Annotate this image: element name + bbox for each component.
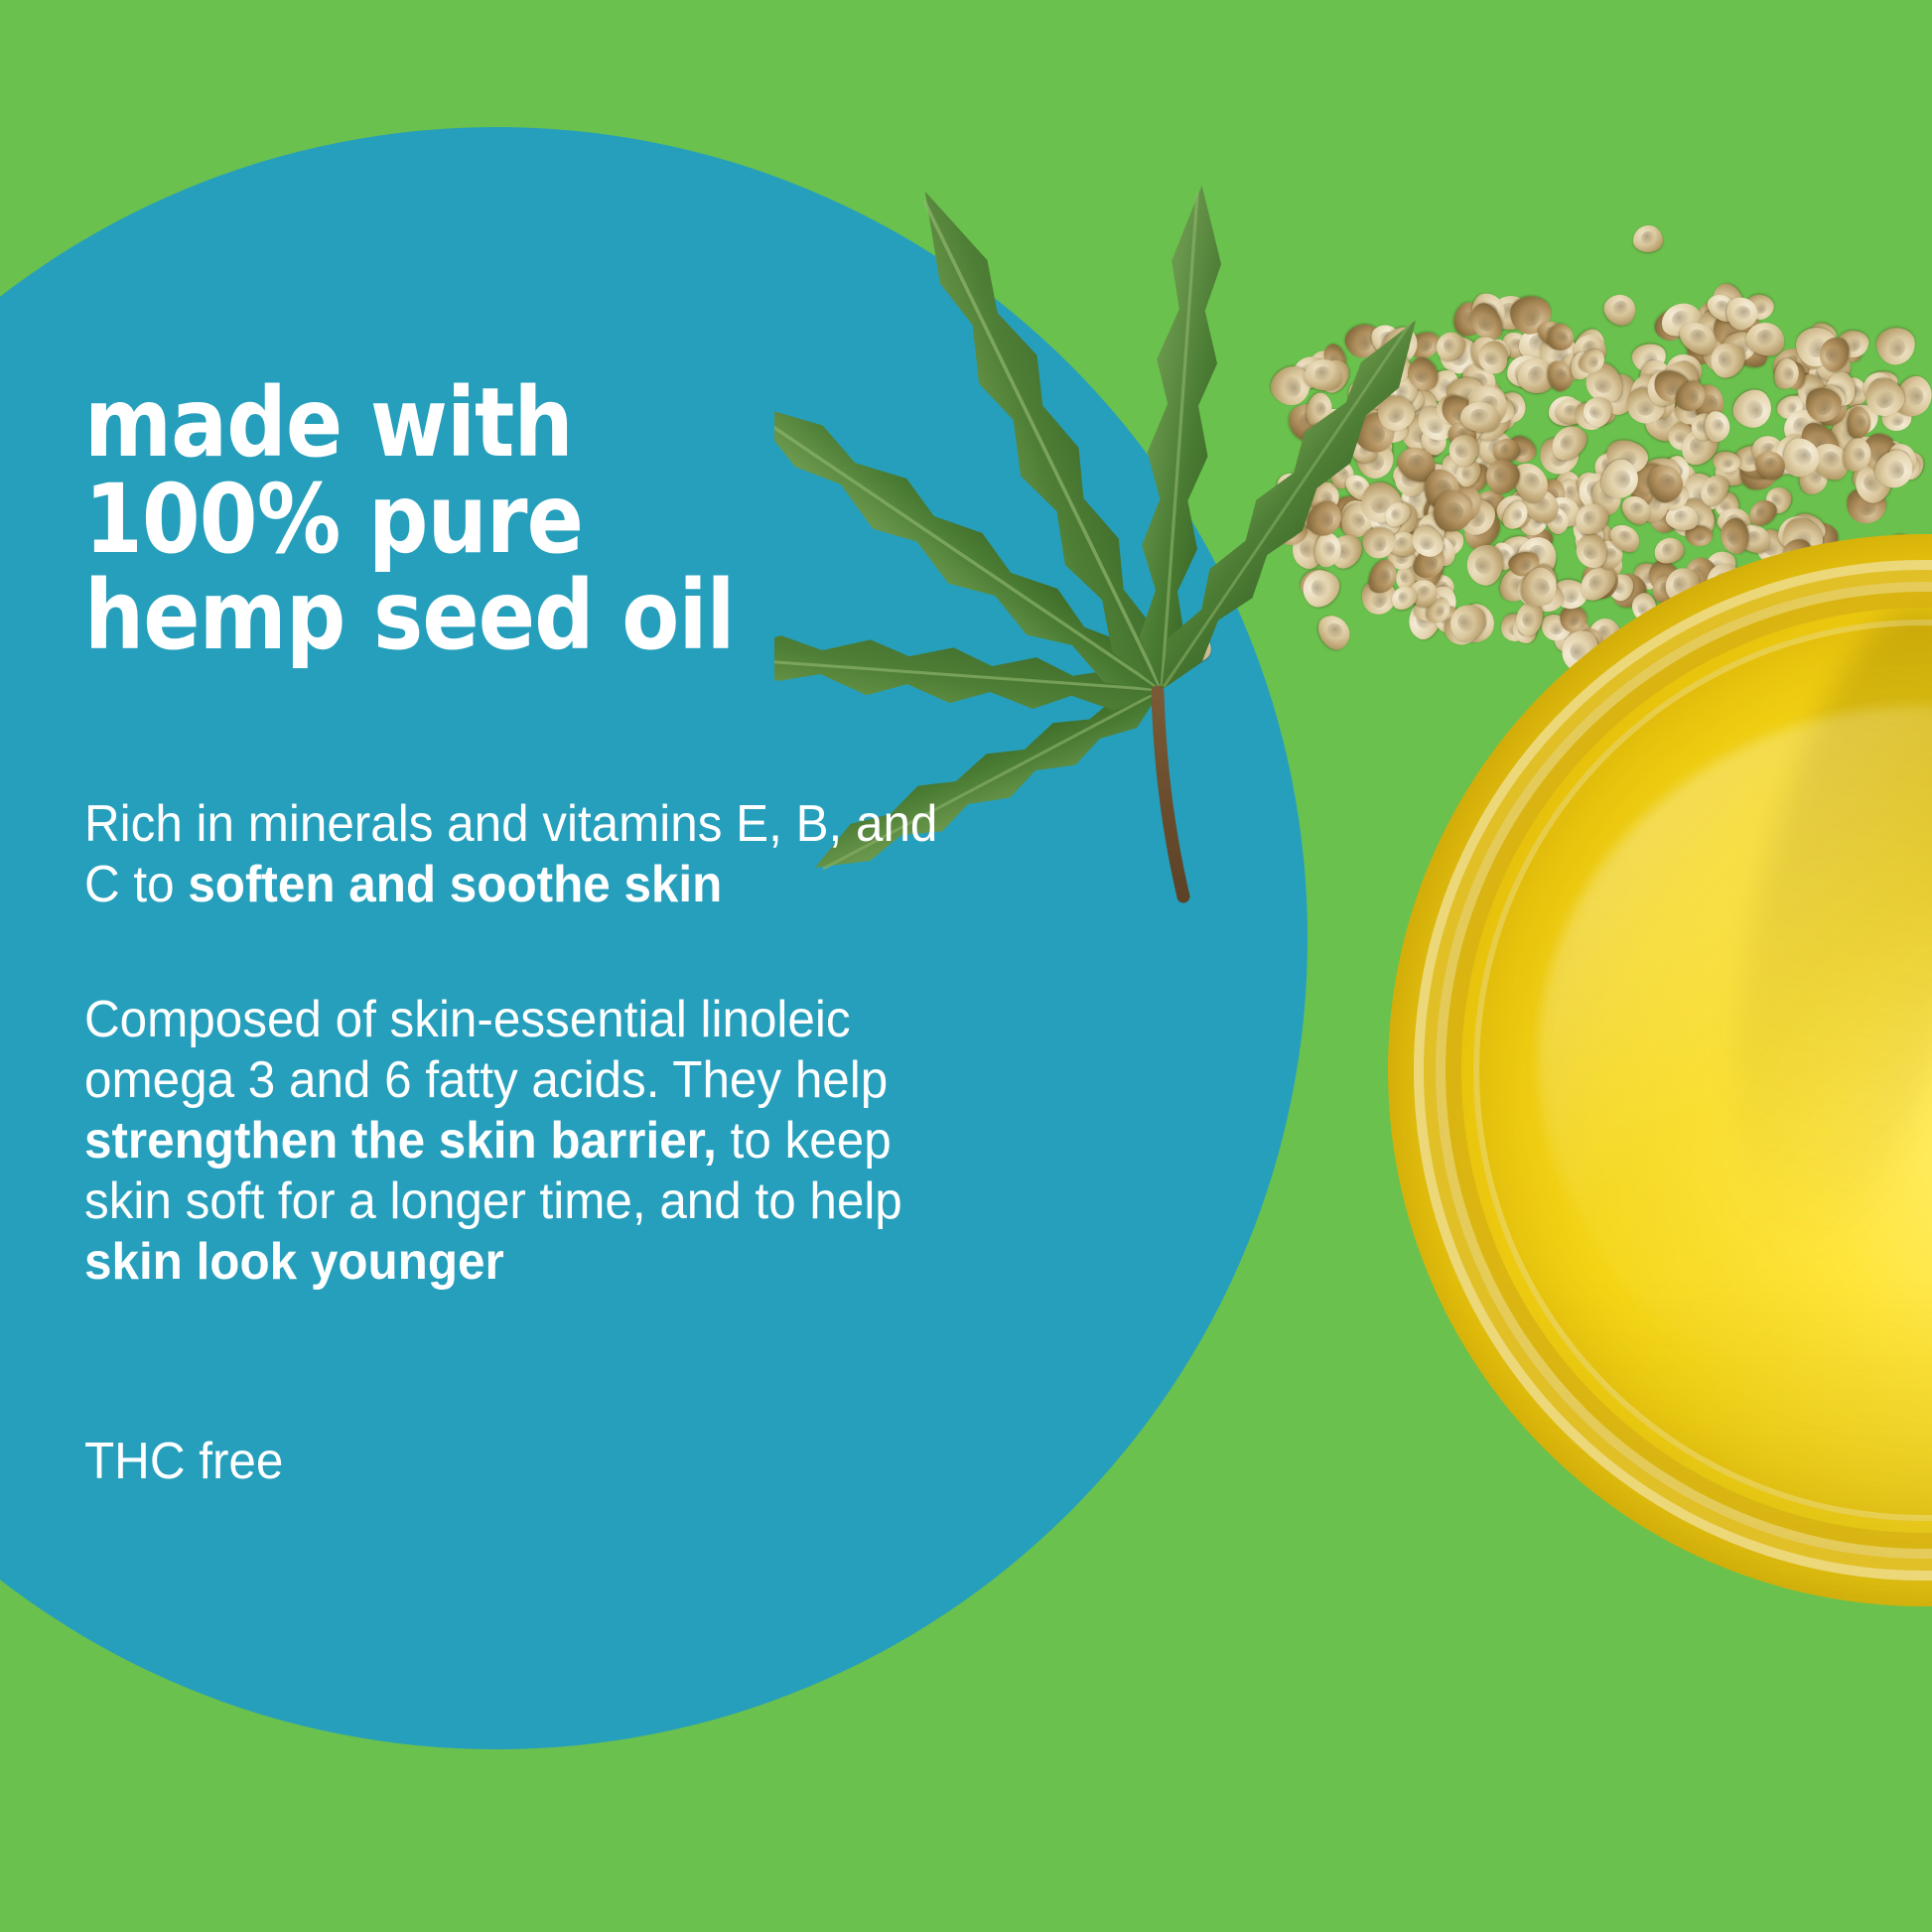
body-text: Composed of skin-essential linoleic omeg… — [84, 991, 888, 1109]
emphasis-text: skin look younger — [84, 1233, 504, 1291]
hemp-seed — [1874, 326, 1917, 367]
benefit-paragraph-vitamins: Rich in minerals and vitamins E, B, and … — [84, 794, 981, 915]
emphasis-text: soften and soothe skin — [188, 856, 722, 913]
emphasis-text: strengthen the skin barrier, — [84, 1112, 717, 1170]
hemp-seed — [1726, 383, 1779, 436]
body-text: THC free — [84, 1433, 283, 1490]
ad-canvas: made with 100% pure hemp seed oil Rich i… — [0, 0, 1932, 1932]
hemp-seed — [1704, 411, 1730, 443]
thc-free-note: THC free — [84, 1432, 981, 1492]
page-title: made with 100% pure hemp seed oil — [84, 375, 897, 664]
benefit-paragraph-fatty-acids: Composed of skin-essential linoleic omeg… — [84, 990, 981, 1293]
hemp-seed — [1632, 225, 1663, 252]
hemp-seed — [1598, 288, 1642, 331]
product-photo-composite — [1072, 119, 1932, 1440]
